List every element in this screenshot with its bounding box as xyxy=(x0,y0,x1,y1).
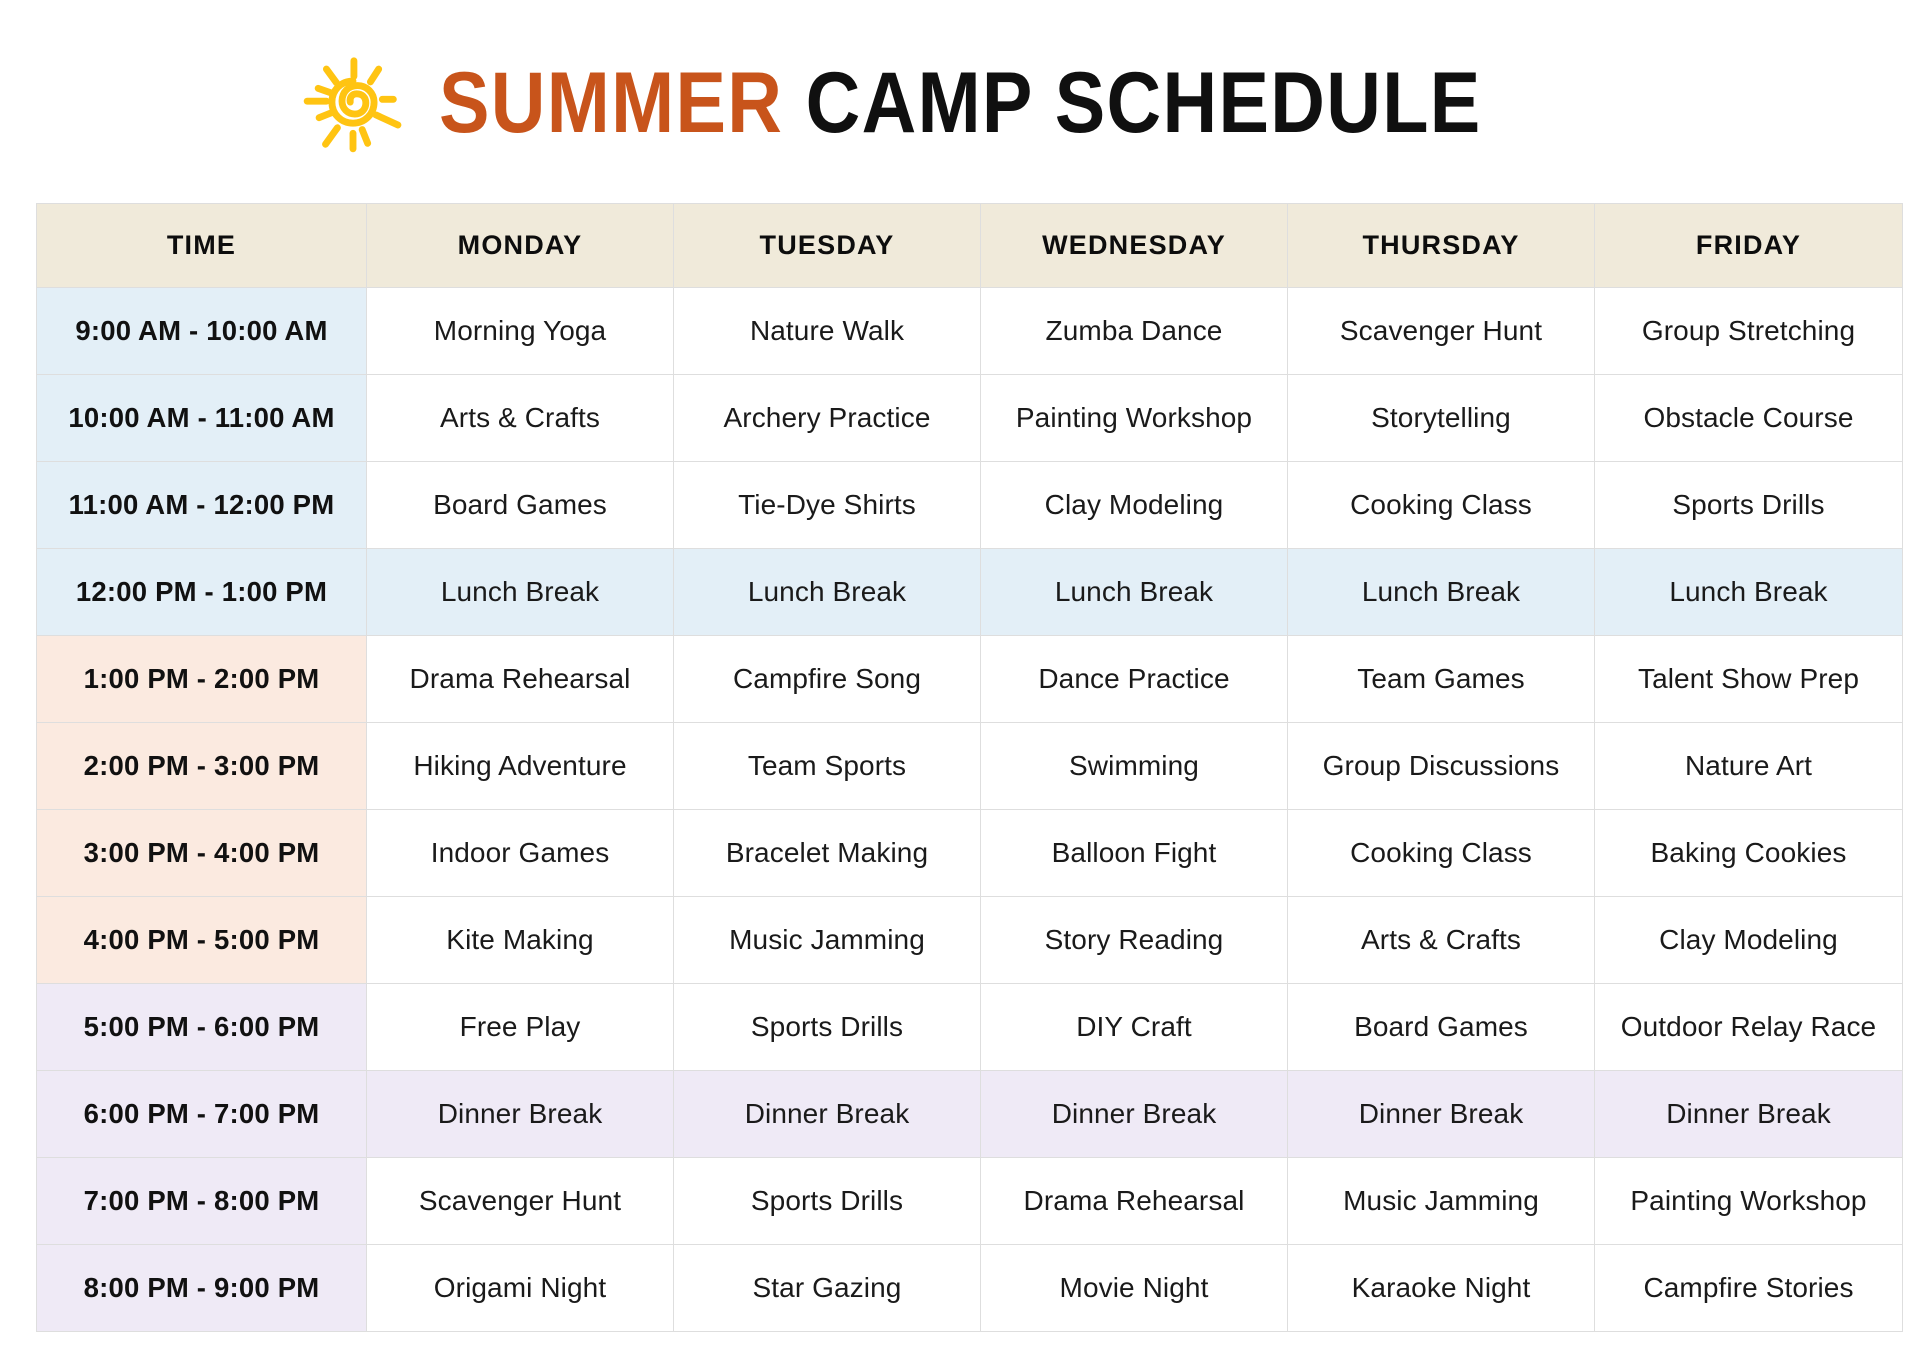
column-header-time: TIME xyxy=(37,204,367,288)
time-cell: 5:00 PM - 6:00 PM xyxy=(37,984,367,1071)
time-cell: 1:00 PM - 2:00 PM xyxy=(37,636,367,723)
activity-cell: Drama Rehearsal xyxy=(981,1158,1288,1245)
column-header-thursday: THURSDAY xyxy=(1288,204,1595,288)
activity-cell: Dinner Break xyxy=(1288,1071,1595,1158)
activity-cell: Nature Walk xyxy=(674,288,981,375)
table-row: 9:00 AM - 10:00 AMMorning YogaNature Wal… xyxy=(37,288,1903,375)
activity-cell: Painting Workshop xyxy=(1595,1158,1903,1245)
activity-cell: Team Games xyxy=(1288,636,1595,723)
activity-cell: Team Sports xyxy=(674,723,981,810)
activity-cell: Board Games xyxy=(1288,984,1595,1071)
activity-cell: Dinner Break xyxy=(367,1071,674,1158)
activity-cell: Sports Drills xyxy=(1595,462,1903,549)
time-cell: 12:00 PM - 1:00 PM xyxy=(37,549,367,636)
activity-cell: Movie Night xyxy=(981,1245,1288,1332)
time-cell: 3:00 PM - 4:00 PM xyxy=(37,810,367,897)
title-camp-schedule: CAMP SCHEDULE xyxy=(783,55,1481,151)
activity-cell: Arts & Crafts xyxy=(367,375,674,462)
activity-cell: Origami Night xyxy=(367,1245,674,1332)
activity-cell: Music Jamming xyxy=(1288,1158,1595,1245)
activity-cell: Outdoor Relay Race xyxy=(1595,984,1903,1071)
activity-cell: Bracelet Making xyxy=(674,810,981,897)
time-cell: 2:00 PM - 3:00 PM xyxy=(37,723,367,810)
table-row: 7:00 PM - 8:00 PMScavenger HuntSports Dr… xyxy=(37,1158,1903,1245)
time-cell: 6:00 PM - 7:00 PM xyxy=(37,1071,367,1158)
activity-cell: Dinner Break xyxy=(1595,1071,1903,1158)
activity-cell: Lunch Break xyxy=(674,549,981,636)
table-row: 2:00 PM - 3:00 PMHiking AdventureTeam Sp… xyxy=(37,723,1903,810)
activity-cell: Music Jamming xyxy=(674,897,981,984)
activity-cell: Sports Drills xyxy=(674,1158,981,1245)
column-header-friday: FRIDAY xyxy=(1595,204,1903,288)
activity-cell: Kite Making xyxy=(367,897,674,984)
time-cell: 9:00 AM - 10:00 AM xyxy=(37,288,367,375)
table-row: 8:00 PM - 9:00 PMOrigami NightStar Gazin… xyxy=(37,1245,1903,1332)
table-row: 12:00 PM - 1:00 PMLunch BreakLunch Break… xyxy=(37,549,1903,636)
title-summer: SUMMER xyxy=(439,55,783,151)
activity-cell: Dinner Break xyxy=(674,1071,981,1158)
activity-cell: Morning Yoga xyxy=(367,288,674,375)
activity-cell: Group Discussions xyxy=(1288,723,1595,810)
activity-cell: Lunch Break xyxy=(1288,549,1595,636)
table-row: 5:00 PM - 6:00 PMFree PlaySports DrillsD… xyxy=(37,984,1903,1071)
activity-cell: Tie-Dye Shirts xyxy=(674,462,981,549)
sun-icon xyxy=(297,48,409,158)
activity-cell: Painting Workshop xyxy=(981,375,1288,462)
time-cell: 10:00 AM - 11:00 AM xyxy=(37,375,367,462)
activity-cell: Indoor Games xyxy=(367,810,674,897)
time-cell: 7:00 PM - 8:00 PM xyxy=(37,1158,367,1245)
activity-cell: Obstacle Course xyxy=(1595,375,1903,462)
activity-cell: Story Reading xyxy=(981,897,1288,984)
activity-cell: Sports Drills xyxy=(674,984,981,1071)
table-row: 3:00 PM - 4:00 PMIndoor GamesBracelet Ma… xyxy=(37,810,1903,897)
activity-cell: DIY Craft xyxy=(981,984,1288,1071)
activity-cell: Lunch Break xyxy=(367,549,674,636)
time-cell: 8:00 PM - 9:00 PM xyxy=(37,1245,367,1332)
schedule-table-container: TIME MONDAY TUESDAY WEDNESDAY THURSDAY F… xyxy=(36,203,1902,1332)
time-cell: 4:00 PM - 5:00 PM xyxy=(37,897,367,984)
activity-cell: Free Play xyxy=(367,984,674,1071)
activity-cell: Clay Modeling xyxy=(981,462,1288,549)
activity-cell: Nature Art xyxy=(1595,723,1903,810)
page-header: SUMMER CAMP SCHEDULE xyxy=(0,44,1920,162)
column-header-monday: MONDAY xyxy=(367,204,674,288)
table-row: 4:00 PM - 5:00 PMKite MakingMusic Jammin… xyxy=(37,897,1903,984)
table-body: 9:00 AM - 10:00 AMMorning YogaNature Wal… xyxy=(37,288,1903,1332)
table-header: TIME MONDAY TUESDAY WEDNESDAY THURSDAY F… xyxy=(37,204,1903,288)
activity-cell: Dinner Break xyxy=(981,1071,1288,1158)
table-row: 6:00 PM - 7:00 PMDinner BreakDinner Brea… xyxy=(37,1071,1903,1158)
activity-cell: Archery Practice xyxy=(674,375,981,462)
activity-cell: Baking Cookies xyxy=(1595,810,1903,897)
activity-cell: Arts & Crafts xyxy=(1288,897,1595,984)
activity-cell: Dance Practice xyxy=(981,636,1288,723)
column-header-tuesday: TUESDAY xyxy=(674,204,981,288)
activity-cell: Lunch Break xyxy=(981,549,1288,636)
activity-cell: Talent Show Prep xyxy=(1595,636,1903,723)
activity-cell: Drama Rehearsal xyxy=(367,636,674,723)
activity-cell: Cooking Class xyxy=(1288,810,1595,897)
activity-cell: Scavenger Hunt xyxy=(1288,288,1595,375)
table-row: 10:00 AM - 11:00 AMArts & CraftsArchery … xyxy=(37,375,1903,462)
activity-cell: Storytelling xyxy=(1288,375,1595,462)
activity-cell: Star Gazing xyxy=(674,1245,981,1332)
activity-cell: Cooking Class xyxy=(1288,462,1595,549)
activity-cell: Karaoke Night xyxy=(1288,1245,1595,1332)
activity-cell: Balloon Fight xyxy=(981,810,1288,897)
activity-cell: Campfire Song xyxy=(674,636,981,723)
table-row: 1:00 PM - 2:00 PMDrama RehearsalCampfire… xyxy=(37,636,1903,723)
time-cell: 11:00 AM - 12:00 PM xyxy=(37,462,367,549)
page-title: SUMMER CAMP SCHEDULE xyxy=(439,60,1482,146)
activity-cell: Swimming xyxy=(981,723,1288,810)
activity-cell: Zumba Dance xyxy=(981,288,1288,375)
activity-cell: Clay Modeling xyxy=(1595,897,1903,984)
header-row: TIME MONDAY TUESDAY WEDNESDAY THURSDAY F… xyxy=(37,204,1903,288)
schedule-page: SUMMER CAMP SCHEDULE TIME MONDAY TUESDAY… xyxy=(0,0,1920,1359)
activity-cell: Board Games xyxy=(367,462,674,549)
activity-cell: Scavenger Hunt xyxy=(367,1158,674,1245)
activity-cell: Group Stretching xyxy=(1595,288,1903,375)
schedule-table: TIME MONDAY TUESDAY WEDNESDAY THURSDAY F… xyxy=(36,203,1903,1332)
column-header-wednesday: WEDNESDAY xyxy=(981,204,1288,288)
activity-cell: Campfire Stories xyxy=(1595,1245,1903,1332)
activity-cell: Hiking Adventure xyxy=(367,723,674,810)
activity-cell: Lunch Break xyxy=(1595,549,1903,636)
table-row: 11:00 AM - 12:00 PMBoard GamesTie-Dye Sh… xyxy=(37,462,1903,549)
